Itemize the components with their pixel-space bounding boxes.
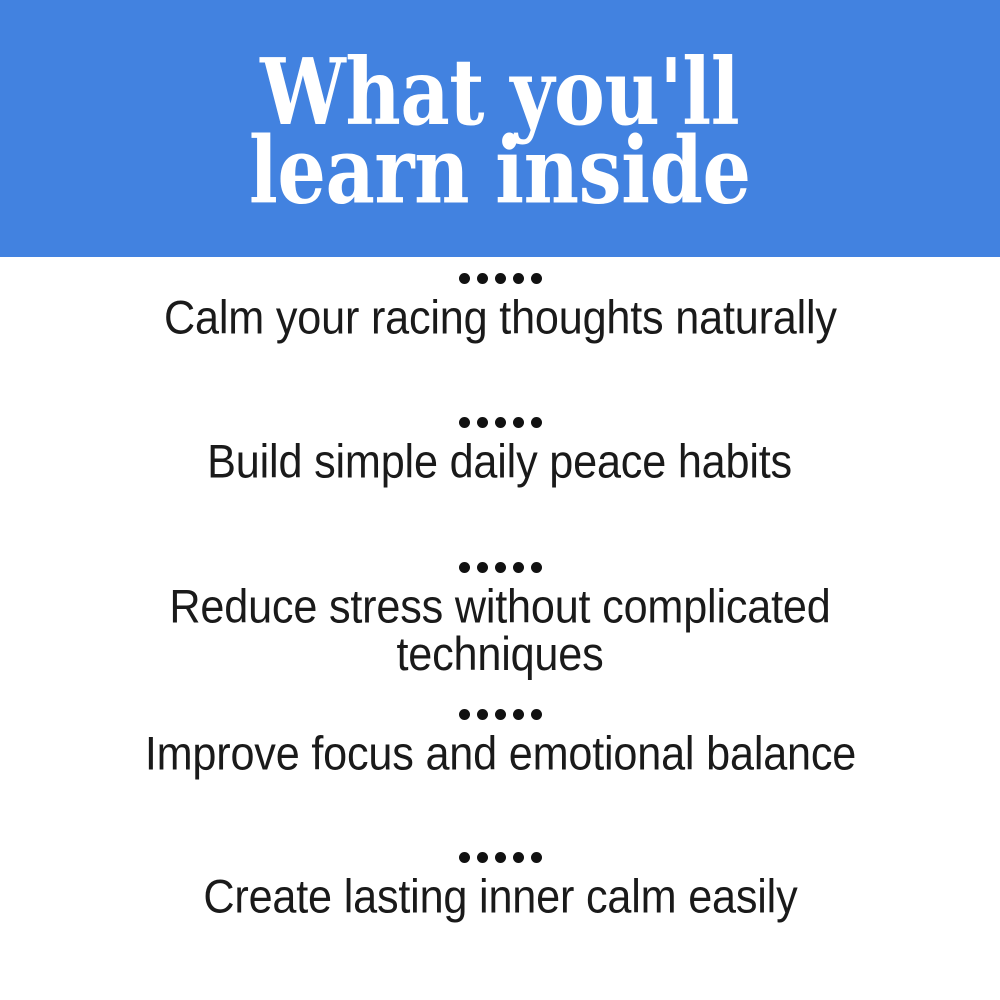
dot-icon: [531, 562, 542, 573]
page-title: What you'll learn inside: [249, 53, 751, 212]
dot-icon: [495, 852, 506, 863]
promotional-poster: What you'll learn inside Calm your racin…: [0, 0, 1000, 1000]
five-dots-divider-icon: [459, 413, 542, 431]
list-item-label: Build simple daily peace habits: [208, 437, 793, 485]
list-item: Build simple daily peace habits: [0, 413, 1000, 482]
dot-icon: [477, 709, 488, 720]
dot-icon: [513, 709, 524, 720]
dot-icon: [513, 273, 524, 284]
dot-icon: [513, 852, 524, 863]
dot-icon: [477, 417, 488, 428]
benefits-list: Calm your racing thoughts naturally Buil…: [0, 269, 1000, 917]
list-item: Reduce stress without complicated techni…: [0, 558, 1000, 672]
dot-icon: [459, 273, 470, 284]
five-dots-divider-icon: [459, 705, 542, 723]
dot-icon: [495, 273, 506, 284]
header-banner: What you'll learn inside: [0, 0, 1000, 257]
list-item: Create lasting inner calm easily: [0, 848, 1000, 917]
benefits-section: Calm your racing thoughts naturally Buil…: [0, 257, 1000, 1000]
dot-icon: [531, 273, 542, 284]
five-dots-divider-icon: [459, 269, 542, 287]
dot-icon: [531, 417, 542, 428]
dot-icon: [531, 709, 542, 720]
list-item-label: Reduce stress without complicated techni…: [106, 582, 893, 677]
dot-icon: [477, 273, 488, 284]
page-title-line-2: learn inside: [249, 131, 751, 212]
list-item: Calm your racing thoughts naturally: [0, 269, 1000, 338]
dot-icon: [477, 852, 488, 863]
dot-icon: [513, 562, 524, 573]
dot-icon: [459, 852, 470, 863]
list-item: Improve focus and emotional balance: [0, 705, 1000, 774]
dot-icon: [477, 562, 488, 573]
dot-icon: [531, 852, 542, 863]
list-item-label: Improve focus and emotional balance: [144, 729, 855, 777]
dot-icon: [459, 709, 470, 720]
list-item-label: Calm your racing thoughts naturally: [164, 293, 837, 341]
five-dots-divider-icon: [459, 558, 542, 576]
dot-icon: [459, 417, 470, 428]
list-item-label: Create lasting inner calm easily: [203, 872, 797, 920]
dot-icon: [495, 709, 506, 720]
dot-icon: [495, 562, 506, 573]
dot-icon: [495, 417, 506, 428]
dot-icon: [513, 417, 524, 428]
dot-icon: [459, 562, 470, 573]
five-dots-divider-icon: [459, 848, 542, 866]
